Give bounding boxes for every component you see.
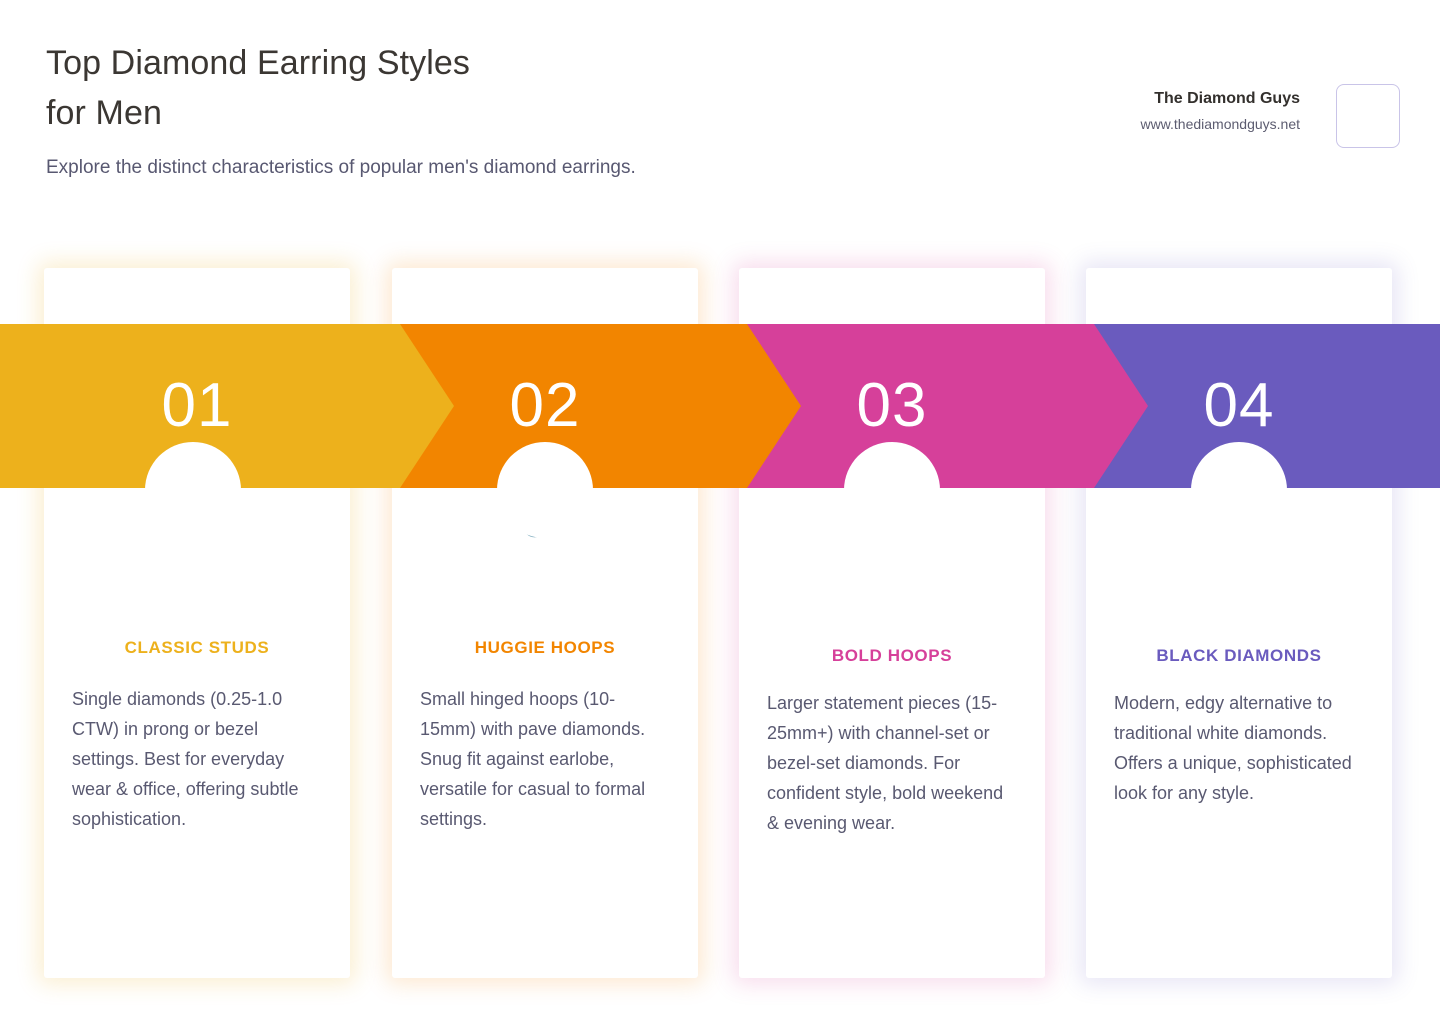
card-description: Modern, edgy alternative to traditional … bbox=[1114, 688, 1364, 808]
brand-name: The Diamond Guys bbox=[1140, 88, 1300, 110]
card-title: CLASSIC STUDS bbox=[44, 638, 350, 658]
card-notch bbox=[1191, 442, 1287, 538]
card-title: HUGGIE HOOPS bbox=[392, 638, 698, 658]
infographic-page: Top Diamond Earring Stylesfor Men Explor… bbox=[0, 0, 1440, 1024]
card-body: 👑 BOLD HOOPS Larger statement pieces (15… bbox=[739, 488, 1045, 838]
page-subtitle: Explore the distinct characteristics of … bbox=[46, 152, 686, 183]
card-notch bbox=[844, 442, 940, 538]
card-body: 💎 CLASSIC STUDS Single diamonds (0.25-1.… bbox=[44, 488, 350, 834]
brand-block: The Diamond Guys www.thediamondguys.net bbox=[1140, 88, 1300, 135]
card-description: Larger statement pieces (15-25mm+) with … bbox=[767, 688, 1017, 838]
card-description: Single diamonds (0.25-1.0 CTW) in prong … bbox=[72, 684, 322, 834]
card-title: BLACK DIAMONDS bbox=[1086, 646, 1392, 666]
card-description: Small hinged hoops (10-15mm) with pave d… bbox=[420, 684, 670, 834]
card-body: 🔗 HUGGIE HOOPS Small hinged hoops (10-15… bbox=[392, 488, 698, 834]
card-title: BOLD HOOPS bbox=[739, 646, 1045, 666]
card-notch bbox=[497, 442, 593, 538]
card-notch bbox=[145, 442, 241, 538]
page-title: Top Diamond Earring Stylesfor Men bbox=[46, 38, 746, 138]
header: Top Diamond Earring Stylesfor Men Explor… bbox=[0, 0, 1440, 250]
brand-logo-box bbox=[1336, 84, 1400, 148]
brand-url: www.thediamondguys.net bbox=[1140, 113, 1300, 135]
